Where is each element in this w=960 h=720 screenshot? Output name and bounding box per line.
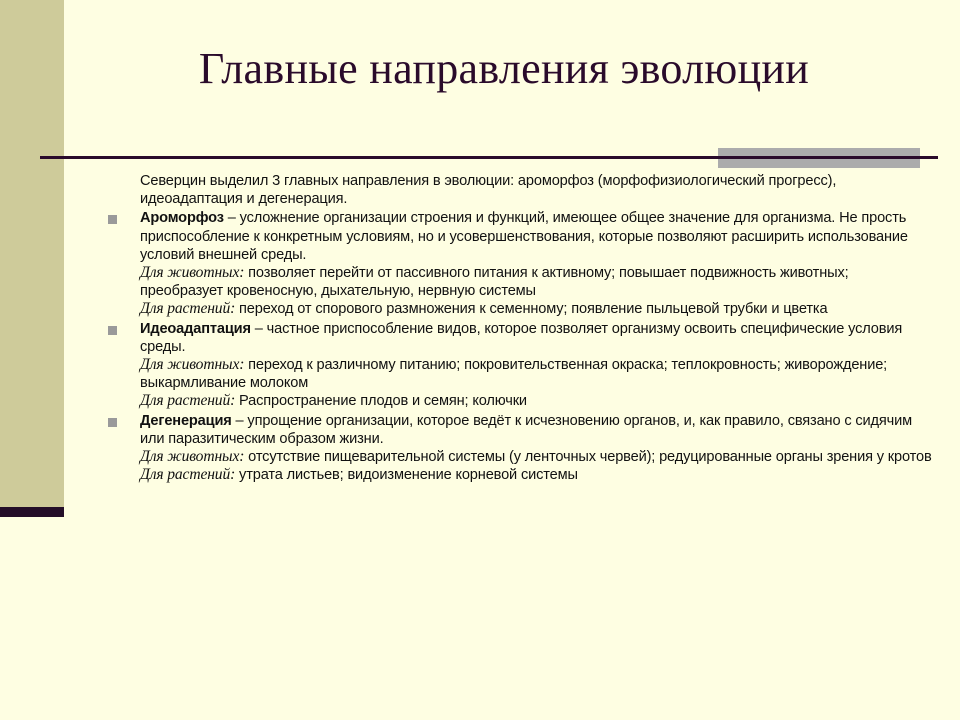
example-line: Для животных: позволяет перейти от пасси…	[140, 264, 934, 300]
square-bullet-icon	[108, 418, 117, 427]
bullet-text: Идеоадаптация – частное приспособление в…	[140, 320, 934, 356]
bullet-text: Ароморфоз – усложнение организации строе…	[140, 209, 934, 264]
term-definition: – упрощение организации, которое ведёт к…	[140, 413, 912, 447]
example-line: Для растений: утрата листьев; видоизмене…	[140, 466, 934, 484]
example-body: позволяет перейти от пассивного питания …	[140, 265, 849, 299]
example-lead-label: Для животных:	[140, 448, 244, 465]
example-body: Распространение плодов и семян; колючки	[235, 393, 527, 409]
example-line: Для растений: переход от спорового размн…	[140, 300, 934, 318]
divider-rule	[40, 156, 938, 159]
left-band-accent-bar	[0, 507, 64, 517]
example-line: Для растений: Распространение плодов и с…	[140, 392, 934, 410]
term-label: Идеоадаптация	[140, 321, 251, 337]
square-bullet-icon	[108, 326, 117, 335]
title-divider	[0, 140, 960, 172]
example-line: Для животных: переход к различному питан…	[140, 356, 934, 392]
example-body: переход к различному питанию; покровител…	[140, 357, 887, 391]
term-label: Дегенерация	[140, 413, 232, 429]
left-decorative-band	[0, 0, 64, 507]
example-body: утрата листьев; видоизменение корневой с…	[235, 467, 578, 483]
square-bullet-icon	[108, 215, 117, 224]
term-definition: – усложнение организации строения и функ…	[140, 210, 908, 262]
presentation-slide: Главные направления эволюции Северцин вы…	[0, 0, 960, 720]
example-lead-label: Для животных:	[140, 264, 244, 281]
example-body: переход от спорового размножения к семен…	[235, 301, 827, 317]
example-lead-label: Для растений:	[140, 466, 235, 483]
title-area: Главные направления эволюции	[64, 46, 944, 136]
list-item: Ароморфоз – усложнение организации строе…	[104, 209, 934, 318]
term-label: Ароморфоз	[140, 210, 224, 226]
bullet-text: Дегенерация – упрощение организации, кот…	[140, 412, 934, 448]
page-title: Главные направления эволюции	[64, 46, 944, 92]
intro-paragraph: Северцин выделил 3 главных направления в…	[140, 172, 934, 208]
example-body: отсутствие пищеварительной системы (у ле…	[244, 449, 931, 465]
example-lead-label: Для растений:	[140, 300, 235, 317]
example-lead-label: Для животных:	[140, 356, 244, 373]
term-definition: – частное приспособление видов, которое …	[140, 321, 902, 355]
slide-body: Северцин выделил 3 главных направления в…	[104, 172, 934, 484]
list-item: Идеоадаптация – частное приспособление в…	[104, 320, 934, 411]
example-lead-label: Для растений:	[140, 392, 235, 409]
list-item: Дегенерация – упрощение организации, кот…	[104, 412, 934, 485]
example-line: Для животных: отсутствие пищеварительной…	[140, 448, 934, 466]
